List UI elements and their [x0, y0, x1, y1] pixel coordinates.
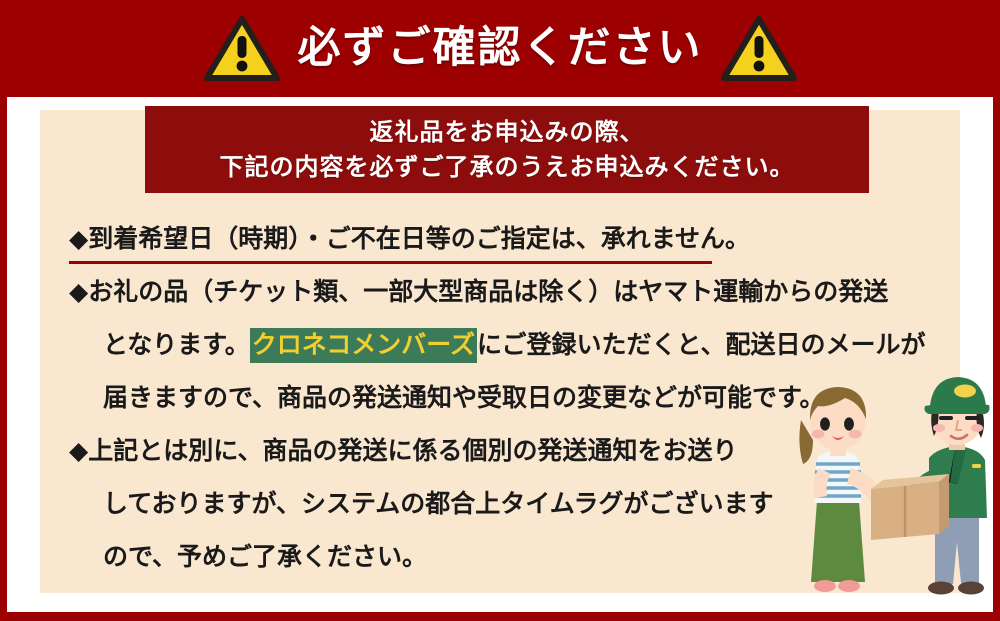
man-hair — [977, 408, 985, 438]
kuroneko-members-highlight: クロネコメンバーズ — [250, 328, 477, 363]
notice-list: ◆到着希望日（時期）・ご不在日等のご指定は、承れません。 ◆お礼の品（チケット類… — [69, 213, 949, 584]
sub-banner-line-1: 返礼品をお申込みの際、 — [370, 116, 645, 151]
notice-time-lag-line-2: しておりますが、システムの都合上タイムラグがございます — [69, 478, 949, 531]
warning-triangle-icon — [721, 16, 797, 82]
notice-yamato-shipping-line-2-prefix: となります。 — [103, 331, 250, 359]
notice-yamato-shipping-line-2-suffix: にご登録いただくと、配送日のメールが — [477, 331, 926, 359]
warning-triangle-icon — [204, 16, 280, 82]
notice-time-lag-line-3: ので、予めご了承ください。 — [69, 531, 949, 584]
man-shoe-right — [958, 582, 984, 595]
notice-yamato-shipping-line-3: 届きますので、商品の発送通知や受取日の変更などが可能です。 — [69, 372, 949, 425]
notice-yamato-shipping-line-1: ◆お礼の品（チケット類、一部大型商品は除く）はヤマト運輸からの発送 — [69, 266, 949, 319]
sub-banner-line-2: 下記の内容を必ずご了承のうえお申込みください。 — [220, 151, 795, 186]
sub-banner: 返礼品をお申込みの際、 下記の内容を必ずご了承のうえお申込みください。 — [145, 106, 869, 193]
notice-page: 必ずご確認ください 返礼品をお申込みの際、 下記の内容を必ずご了承のうえお申込み… — [0, 0, 1000, 621]
notice-arrival-date-line-1: ◆到着希望日（時期）・ご不在日等のご指定は、承れません。 — [69, 213, 949, 266]
notice-time-lag-line-1: ◆上記とは別に、商品の発送に係る個別の発送通知をお送り — [69, 425, 949, 478]
header-banner: 必ずご確認ください — [0, 0, 1000, 97]
man-uniform-badge — [972, 464, 981, 468]
page-title: 必ずご確認ください — [298, 27, 703, 70]
notice-yamato-shipping-line-2: となります。クロネコメンバーズにご登録いただくと、配送日のメールが — [69, 319, 949, 372]
notice-arrival-date-underline — [69, 261, 712, 264]
man-cheek-right — [971, 424, 983, 432]
